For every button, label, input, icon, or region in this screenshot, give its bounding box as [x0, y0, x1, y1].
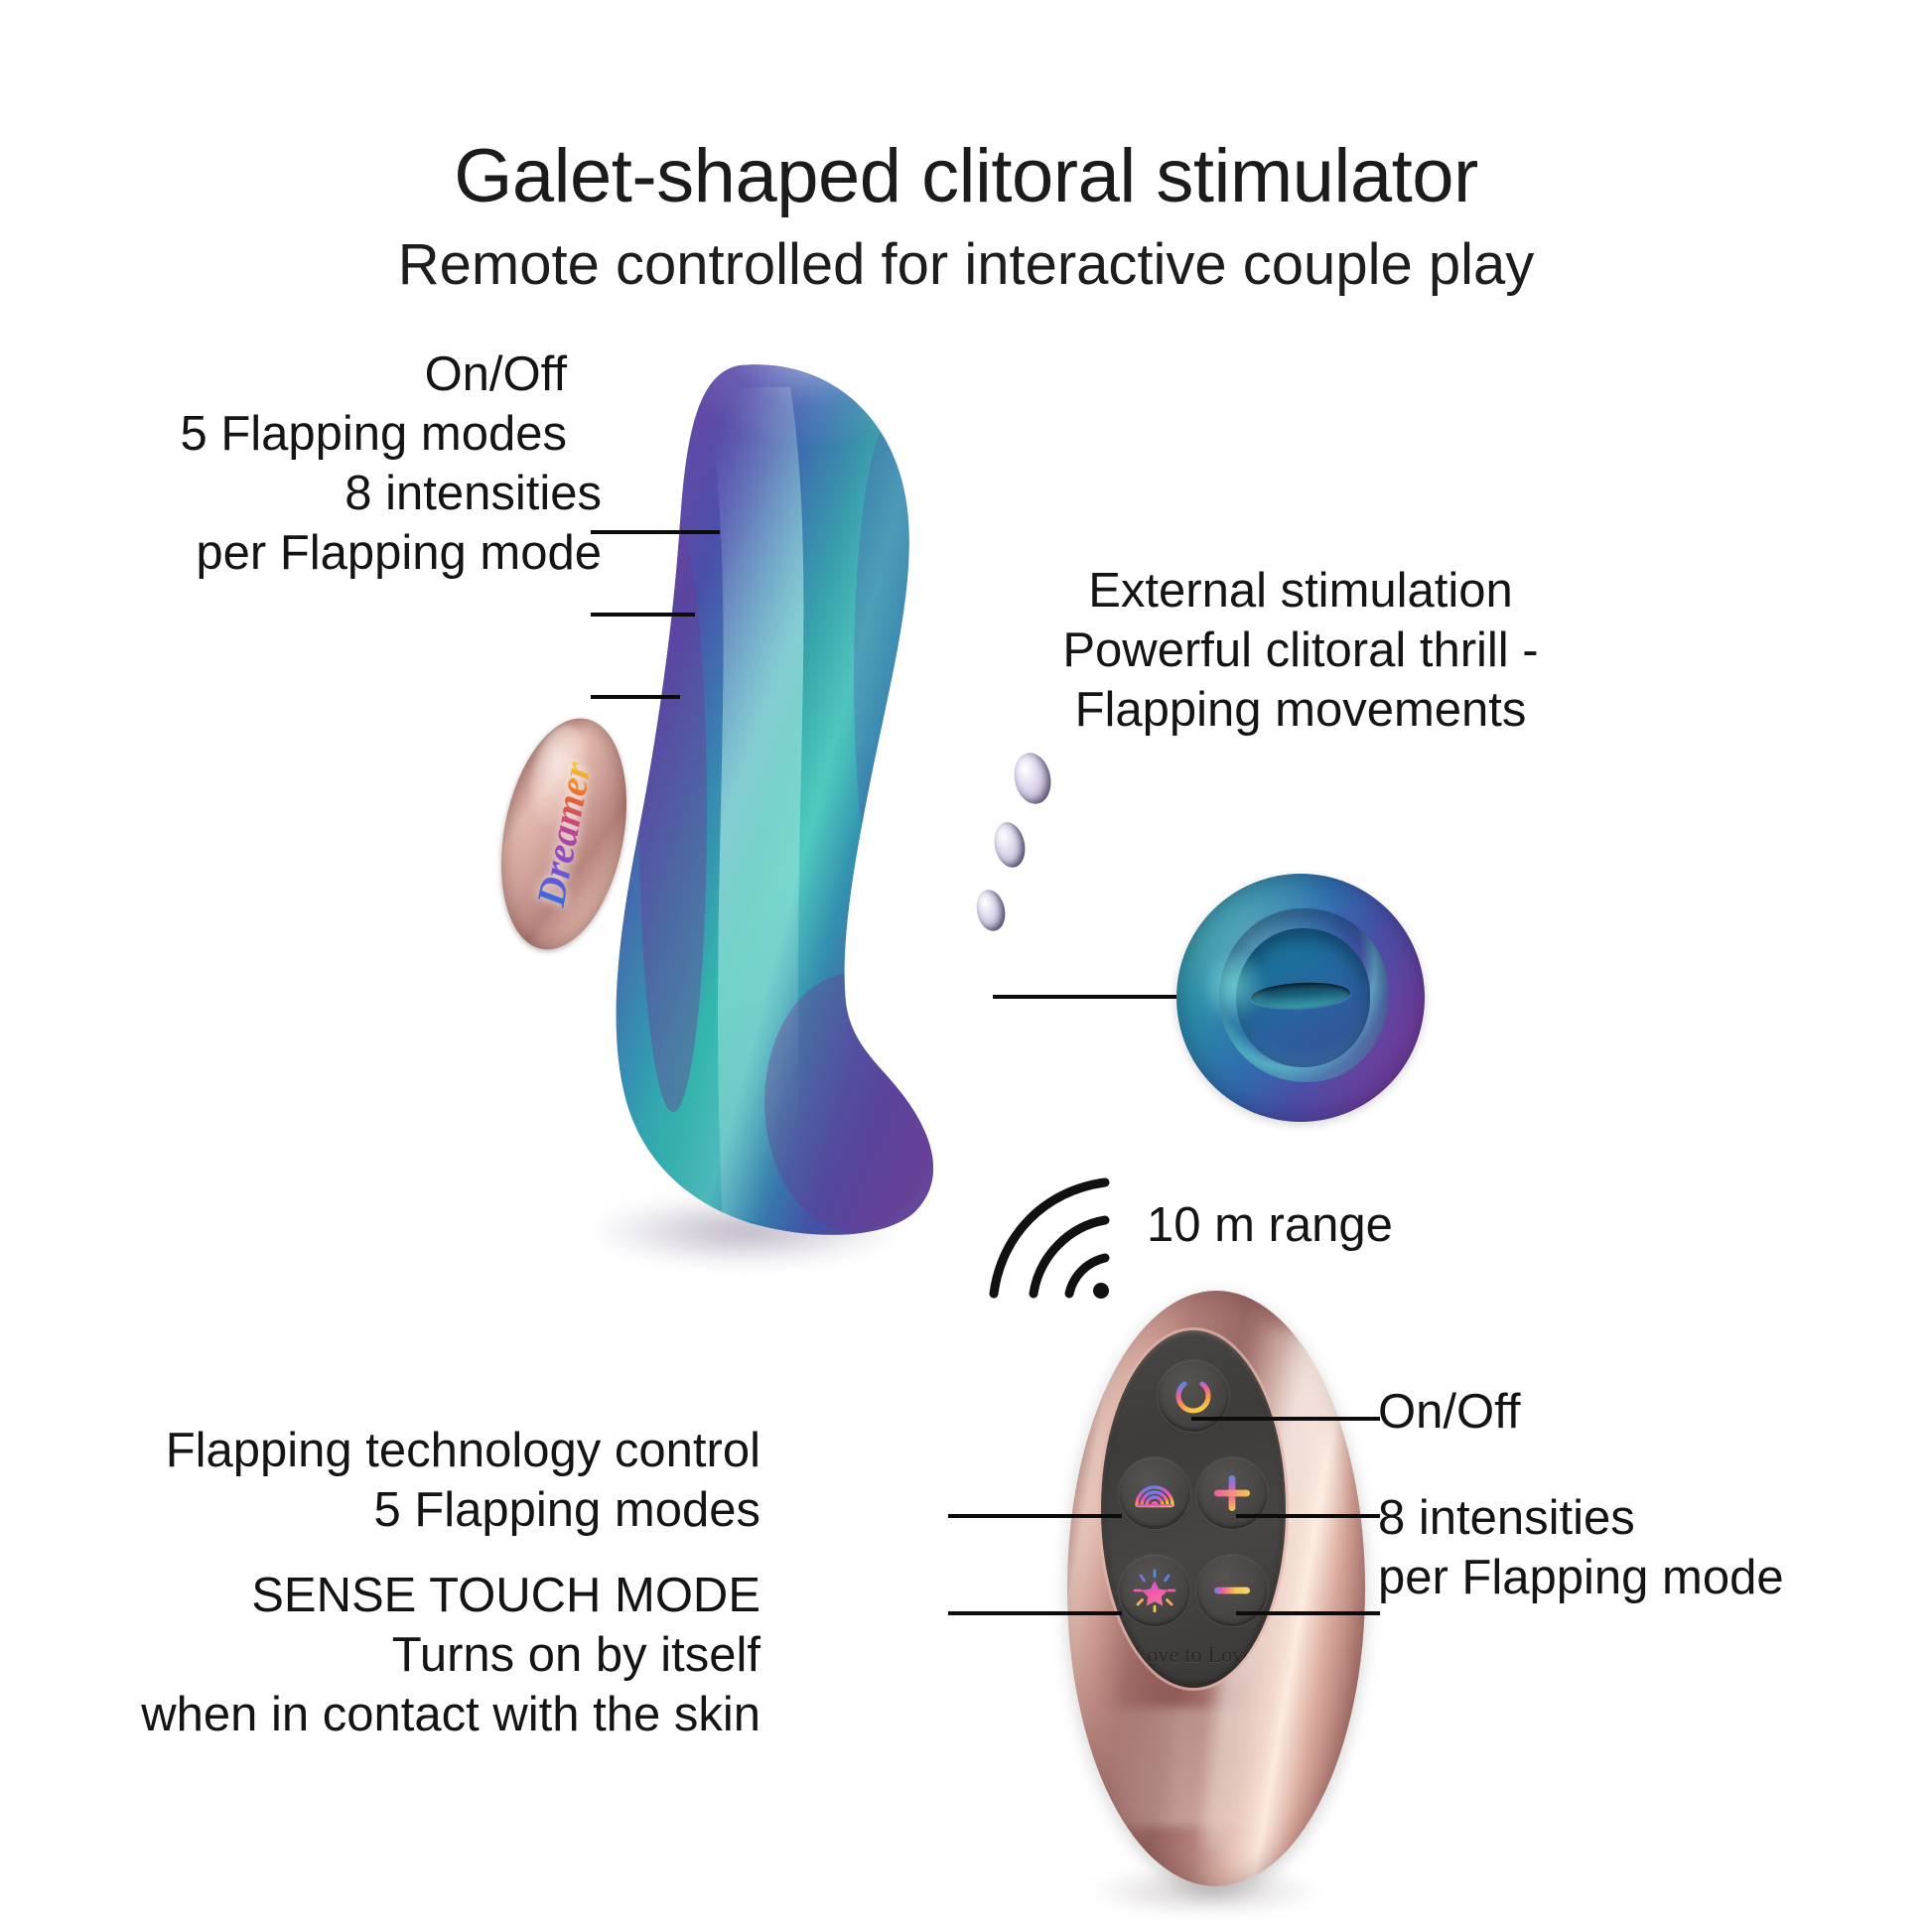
leader-line-device-intensity-up: [591, 613, 695, 617]
callout-line: On/Off: [51, 345, 567, 405]
callout-line: Powerful clitoral thrill -: [1033, 621, 1569, 681]
page-subtitle: Remote controlled for interactive couple…: [0, 236, 1932, 294]
callout-line: Turns on by itself: [26, 1626, 760, 1686]
callout-line: On/Off: [1378, 1383, 1825, 1443]
page-title: Galet-shaped clitoral stimulator: [0, 139, 1932, 214]
sense-touch-button[interactable]: [1119, 1555, 1190, 1626]
leader-line-remote-minus: [1236, 1611, 1380, 1615]
head-highlight: [1201, 948, 1266, 1023]
callout-remote-intensities: 8 intensities per Flapping mode: [1378, 1489, 1855, 1608]
callout-flapping-technology: Flapping technology control 5 Flapping m…: [26, 1422, 760, 1541]
callout-line: SENSE TOUCH MODE: [26, 1567, 760, 1626]
leader-line-remote-sense: [948, 1611, 1122, 1615]
callout-line: 5 Flapping modes: [51, 405, 567, 465]
remote-control: Love to Love: [1067, 1291, 1365, 1906]
sparkle-star-icon: [1133, 1569, 1176, 1612]
leader-line-head-detail: [993, 995, 1176, 999]
callout-line: External stimulation: [1033, 562, 1569, 621]
device-head-detail: [1176, 874, 1425, 1122]
minus-icon: [1210, 1569, 1254, 1612]
leader-line-remote-power: [1191, 1417, 1380, 1421]
plus-icon: [1210, 1471, 1254, 1515]
intensity-down-button[interactable]: [1196, 1555, 1268, 1626]
leader-line-device-onoff: [591, 530, 720, 534]
leader-line-device-intensity-down: [591, 695, 680, 699]
callout-line: Flapping movements: [1033, 681, 1569, 741]
leader-line-remote-mode: [948, 1514, 1122, 1518]
power-icon: [1172, 1374, 1215, 1418]
callout-line: per Flapping mode: [46, 524, 602, 584]
power-button[interactable]: [1158, 1360, 1229, 1432]
callout-line: 8 intensities: [1378, 1489, 1855, 1549]
callout-line: 10 m range: [1147, 1196, 1484, 1256]
wifi-signal-icon: [988, 1176, 1117, 1306]
remote-lower-highlight: [1097, 1708, 1306, 1827]
callout-external-stimulation: External stimulation Powerful clitoral t…: [1033, 562, 1569, 740]
callout-sense-touch-mode: SENSE TOUCH MODE Turns on by itself when…: [26, 1567, 760, 1744]
callout-line: 8 intensities: [46, 465, 602, 524]
device-button-onoff[interactable]: [1010, 750, 1055, 807]
callout-line: when in contact with the skin: [26, 1686, 760, 1745]
concentric-waves-icon: [1133, 1471, 1176, 1515]
callout-line: per Flapping mode: [1378, 1549, 1855, 1608]
infographic-canvas: Galet-shaped clitoral stimulator Remote …: [0, 0, 1932, 1932]
flapping-mode-button[interactable]: [1119, 1457, 1190, 1529]
callout-device-onoff: On/Off 5 Flapping modes: [51, 345, 567, 465]
callout-remote-onoff: On/Off: [1378, 1383, 1825, 1443]
callout-line: 5 Flapping modes: [26, 1481, 760, 1541]
remote-button-panel: Love to Love: [1101, 1330, 1286, 1688]
callout-line: Flapping technology control: [26, 1422, 760, 1481]
remote-brand-text: Love to Love: [1101, 1642, 1286, 1668]
callout-device-intensities: 8 intensities per Flapping mode: [46, 465, 602, 584]
intensity-up-button[interactable]: [1196, 1457, 1268, 1529]
callout-range: 10 m range: [1147, 1196, 1484, 1256]
leader-line-remote-plus: [1236, 1514, 1380, 1518]
